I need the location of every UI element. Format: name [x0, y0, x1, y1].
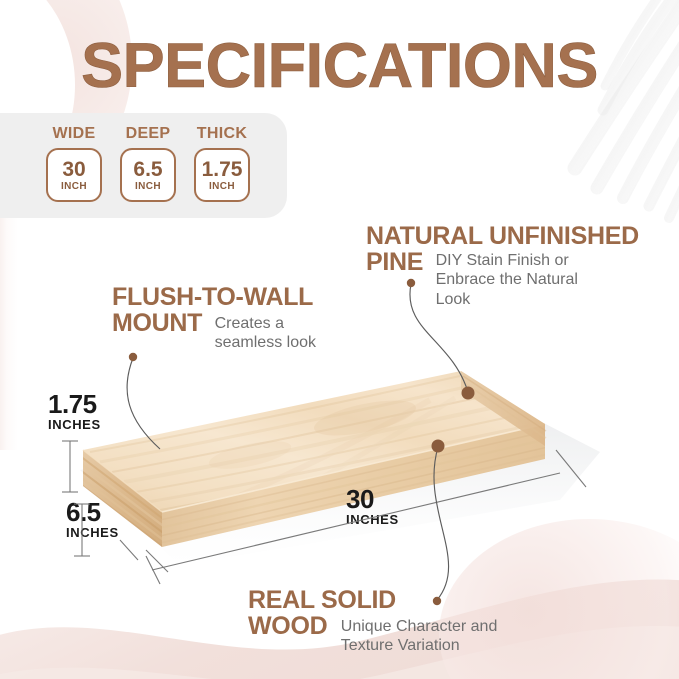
callout-leader-lines — [127, 284, 468, 600]
callout-dots — [129, 279, 475, 605]
leader-line-flush-mount — [127, 358, 160, 449]
leader-line-real-solid-wood — [434, 447, 449, 600]
callout-dot-pine-text — [407, 279, 415, 287]
dim-tick-width-right — [556, 450, 586, 487]
callout-dot-wood-text — [433, 597, 441, 605]
callout-dot-flush-text — [129, 353, 137, 361]
callout-dot-wood-product — [432, 440, 445, 453]
dimension-lines — [62, 441, 586, 584]
leader-line-natural-pine — [410, 284, 468, 392]
annotation-lines-layer — [0, 0, 679, 679]
dim-tick-width-left — [146, 556, 160, 584]
infographic-canvas: SPECIFICATIONS WIDE 30 INCH DEEP 6.5 INC… — [0, 0, 679, 679]
callout-dot-pine-product — [462, 387, 475, 400]
dim-line-width — [152, 473, 560, 570]
dim-tick-deep-diag-1 — [120, 540, 138, 560]
